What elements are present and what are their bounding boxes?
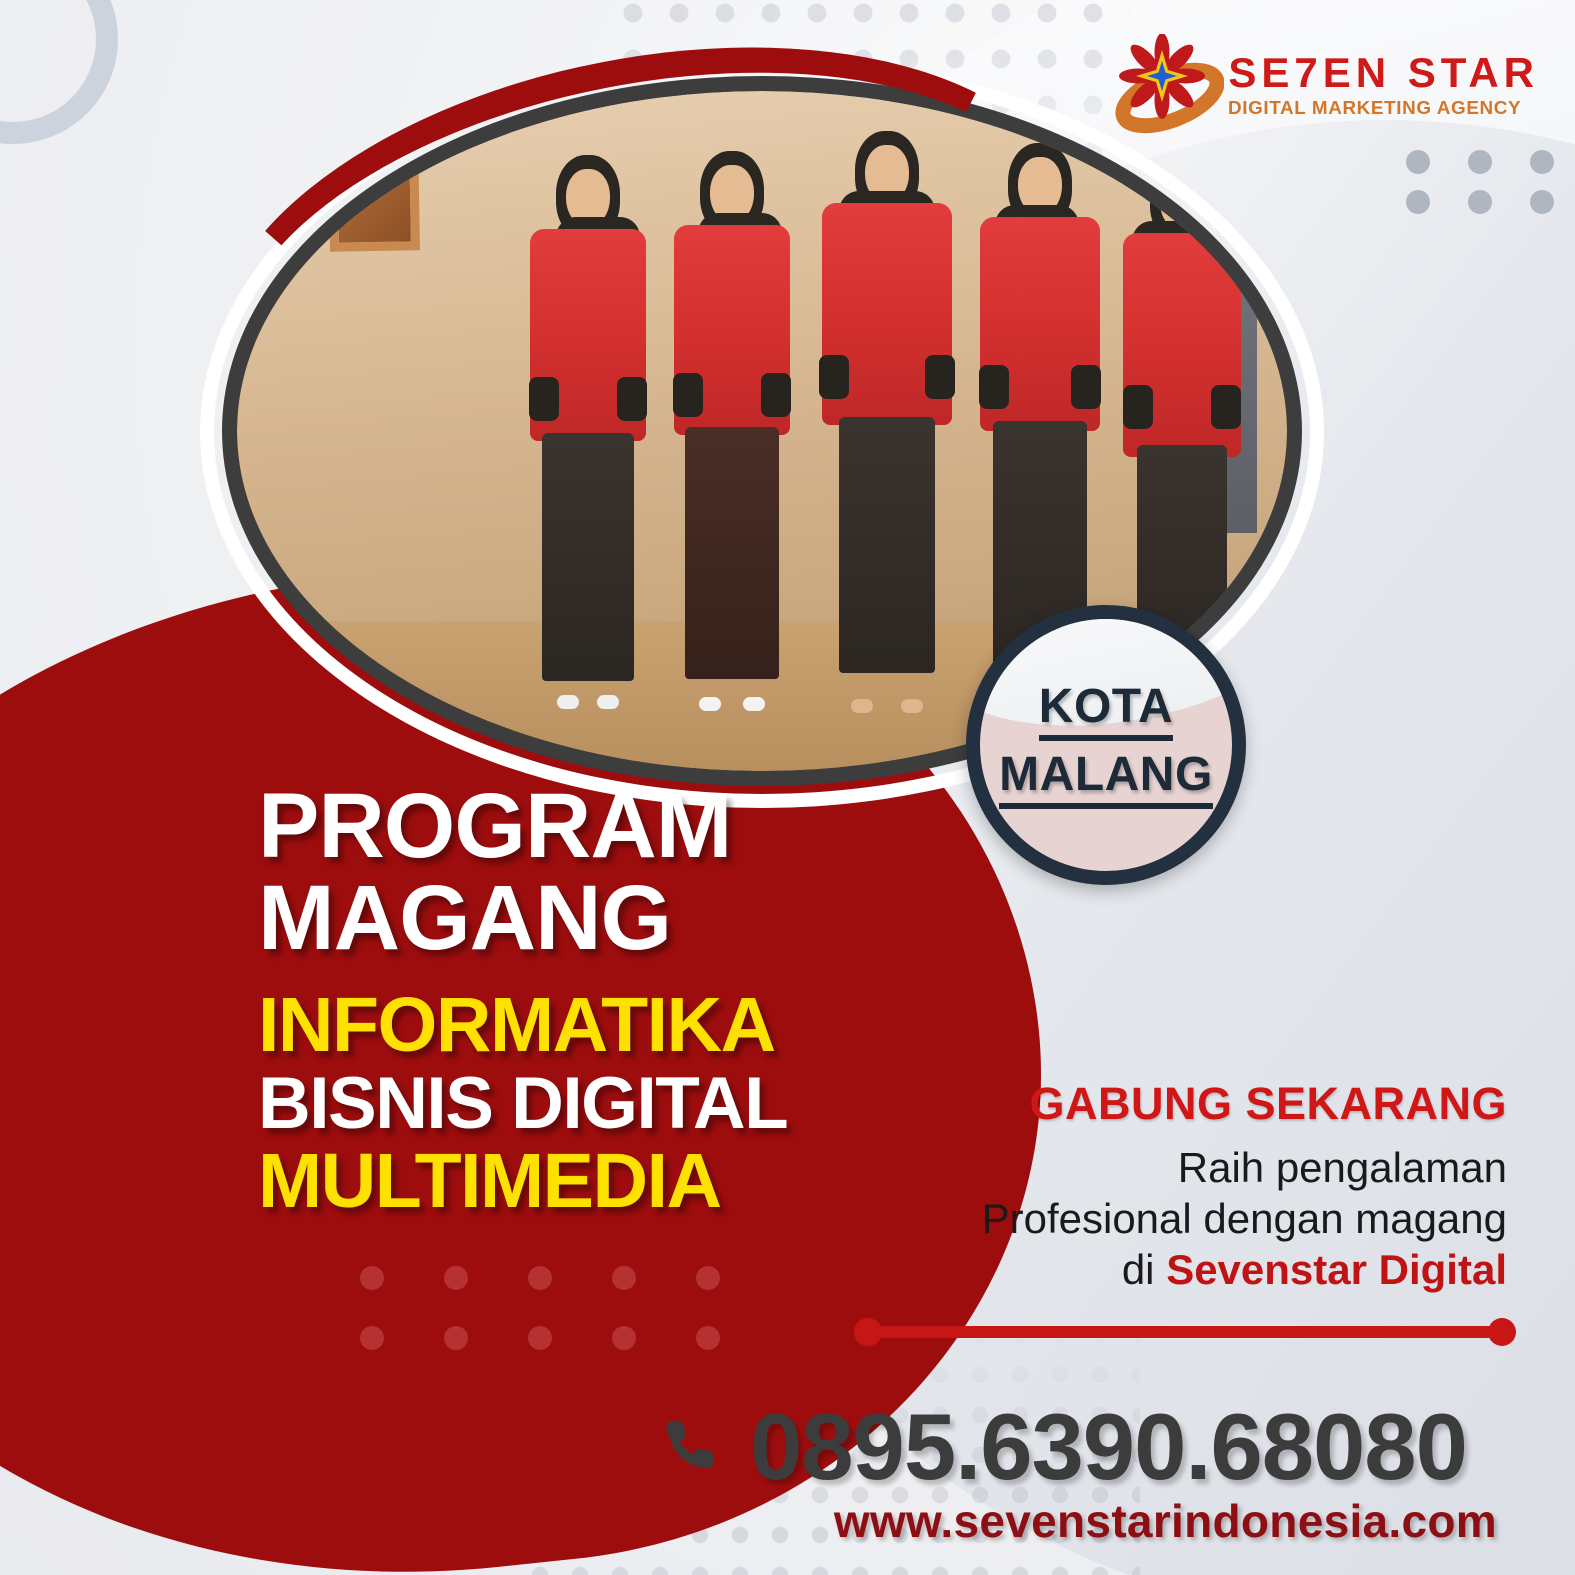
cta-block: GABUNG SEKARANG Raih pengalaman Profesio…: [887, 1078, 1507, 1296]
kota-malang-badge: KOTA MALANG: [966, 605, 1246, 885]
red-dot: [696, 1326, 720, 1350]
cta-body: Raih pengalaman Profesional dengan magan…: [887, 1142, 1507, 1296]
cta-body-line-3: di Sevenstar Digital: [887, 1244, 1507, 1295]
person-figure: [523, 155, 653, 715]
cta-heading: GABUNG SEKARANG: [887, 1078, 1507, 1130]
red-dot: [444, 1266, 468, 1290]
headline-line-bisnis-digital: BISNIS DIGITAL: [258, 1069, 898, 1139]
red-dot: [444, 1326, 468, 1350]
decor-dot: [1406, 150, 1430, 174]
headline-line-magang: MAGANG: [258, 874, 898, 962]
logo-wordmark: SE7EN STAR DIGITAL MARKETING AGENCY: [1228, 52, 1539, 121]
cta-body-line-2: Profesional dengan magang: [887, 1193, 1507, 1244]
headline-block: PROGRAM MAGANG INFORMATIKA BISNIS DIGITA…: [258, 782, 898, 1219]
person-figure: [667, 143, 797, 715]
phone-number: 0895.6390.68080: [750, 1400, 1467, 1494]
cta-brand-name: Sevenstar Digital: [1166, 1246, 1507, 1293]
sevenstar-flower-icon: [1112, 34, 1224, 138]
logo-subtitle: DIGITAL MARKETING AGENCY: [1228, 96, 1521, 121]
red-dot: [360, 1326, 384, 1350]
decor-dot: [1406, 190, 1430, 214]
headline-line-multimedia: MULTIMEDIA: [258, 1145, 898, 1219]
poster-canvas: SE7EN STAR DIGITAL MARKETING AGENCY KOTA…: [0, 0, 1575, 1575]
decor-dot: [1468, 190, 1492, 214]
red-dot: [696, 1266, 720, 1290]
red-divider-line: [862, 1326, 1508, 1338]
phone-icon: [660, 1410, 726, 1484]
cta-body-line-1: Raih pengalaman: [887, 1142, 1507, 1193]
red-dot-grid: [360, 1266, 780, 1350]
decor-dot: [1468, 150, 1492, 174]
red-dot: [360, 1266, 384, 1290]
badge-line-1: KOTA: [1039, 681, 1173, 741]
red-dot: [612, 1326, 636, 1350]
logo-title: SE7EN STAR: [1228, 52, 1539, 94]
headline-line-informatika: INFORMATIKA: [258, 989, 898, 1063]
badge-line-2: MALANG: [999, 749, 1213, 809]
decor-dot: [1530, 190, 1554, 214]
red-dot: [528, 1266, 552, 1290]
red-dot: [528, 1326, 552, 1350]
headline-line-program: PROGRAM: [258, 782, 898, 870]
wall-picture-frame: [328, 132, 420, 252]
website-url: www.sevenstarindonesia.com: [0, 1494, 1497, 1548]
decor-ring-top-left: [0, 0, 118, 144]
phone-contact-row: 0895.6390.68080: [660, 1400, 1467, 1494]
cta-body-prefix: di: [1122, 1246, 1166, 1293]
brand-logo: SE7EN STAR DIGITAL MARKETING AGENCY: [1112, 34, 1539, 138]
person-figure: [815, 131, 959, 715]
red-dot: [612, 1266, 636, 1290]
decor-dot: [1530, 150, 1554, 174]
